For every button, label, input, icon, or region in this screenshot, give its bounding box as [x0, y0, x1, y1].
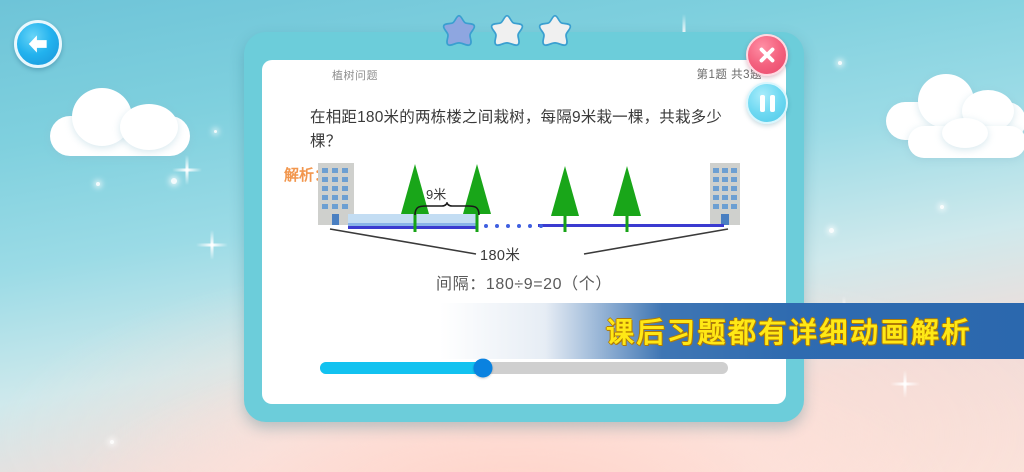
sparkle-star [196, 230, 228, 260]
star-1 [442, 14, 476, 48]
tree-planting-diagram: 9米 180米 [310, 158, 760, 263]
sparkle [940, 205, 944, 209]
back-button[interactable] [14, 20, 62, 68]
tree [610, 166, 644, 226]
progress-bar[interactable] [320, 362, 728, 374]
gap-brace [414, 202, 480, 216]
tree [460, 164, 494, 226]
sparkle [214, 130, 217, 133]
sparkle [829, 228, 834, 233]
sparkle [838, 61, 842, 65]
formula-text: 间隔：180÷9=20（个） [262, 270, 786, 294]
sparkle [171, 178, 177, 184]
arrow-left-icon [25, 31, 51, 57]
span-indicator [328, 228, 732, 258]
sparkle [96, 182, 100, 186]
sparkle-star [890, 370, 920, 398]
cloud-left [42, 82, 198, 154]
progress-thumb[interactable] [474, 359, 493, 378]
gap-label: 9米 [426, 184, 446, 203]
cloud-right-lower [908, 118, 1024, 158]
question-text: 在相距180米的两栋楼之间栽树，每隔9米栽一棵，共栽多少棵？ [310, 106, 744, 154]
star-2 [490, 14, 524, 48]
sparkle-star [172, 155, 202, 185]
close-icon [756, 44, 778, 66]
tree [548, 166, 582, 226]
span-label: 180米 [480, 244, 520, 265]
promo-banner: 课后习题都有详细动画解析 [440, 303, 1024, 359]
close-button[interactable] [746, 34, 788, 76]
promo-banner-text: 课后习题都有详细动画解析 [606, 311, 1024, 351]
card-header: 植树问题 第1题 共3题 [262, 60, 786, 90]
pause-icon [757, 95, 777, 112]
lesson-title: 植树问题 [332, 67, 378, 83]
sparkle [110, 440, 114, 444]
cloud-right-upper [882, 72, 1024, 140]
building-right [710, 163, 740, 225]
pause-button[interactable] [746, 82, 788, 124]
progress-fill [320, 362, 483, 374]
lesson-card: 植树问题 第1题 共3题 在相距180米的两栋楼之间栽树，每隔9米栽一棵，共栽多… [244, 32, 804, 422]
star-rating [442, 14, 572, 48]
star-3 [538, 14, 572, 48]
